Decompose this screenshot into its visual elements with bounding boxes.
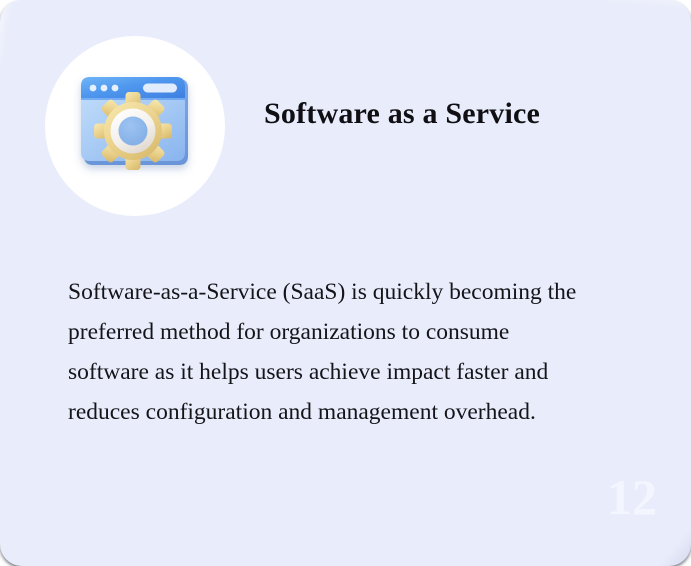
page-title: Software as a Service xyxy=(264,90,564,137)
page-number: 12 xyxy=(607,472,657,522)
saas-browser-gear-icon xyxy=(73,62,197,188)
slide-card: Software as a Service Software-as-a-Serv… xyxy=(0,0,691,566)
body-paragraph: Software-as-a-Service (SaaS) is quickly … xyxy=(68,272,578,432)
icon-badge-circle xyxy=(45,36,225,216)
card-header: Software as a Service xyxy=(0,0,691,236)
